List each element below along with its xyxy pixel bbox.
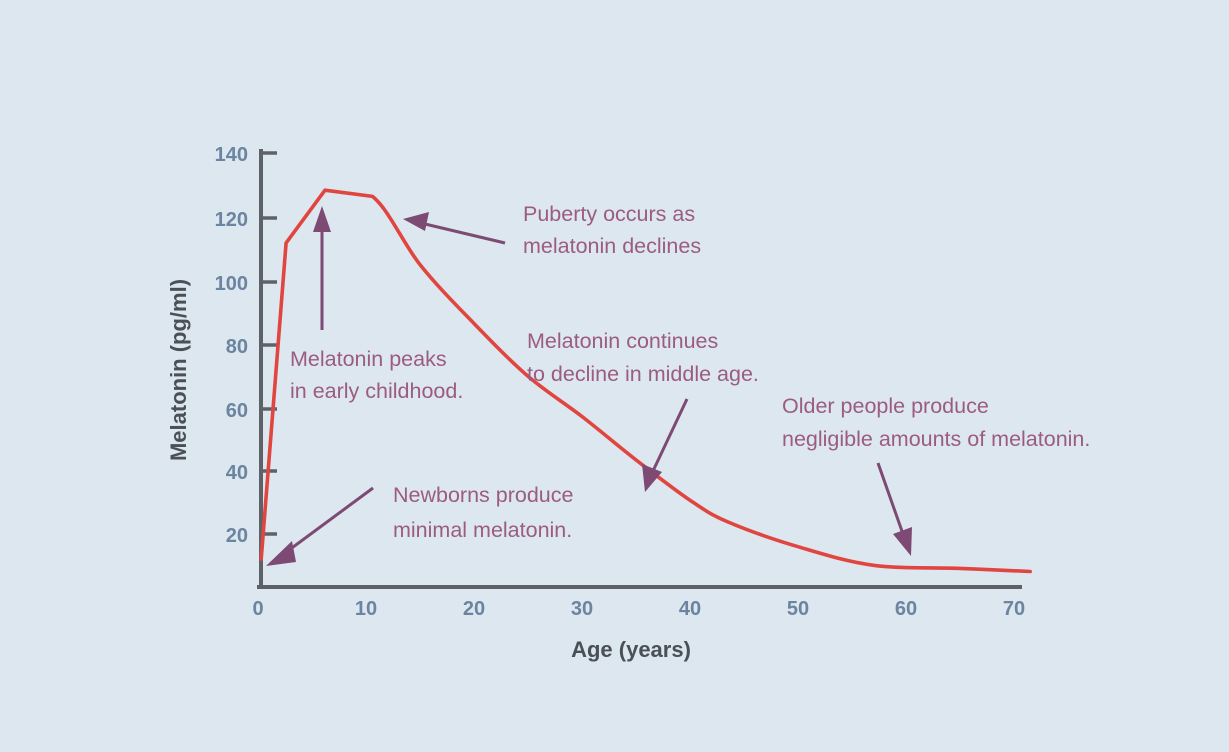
x-tick-labels: 0 10 20 30 40 50 60 70 <box>252 598 1025 620</box>
y-tick-label: 80 <box>226 336 248 358</box>
annotation-puberty: Puberty occurs as melatonin declines <box>403 202 701 258</box>
y-tick-labels: 140 120 100 80 60 40 20 <box>215 144 248 547</box>
chart-figure: 140 120 100 80 60 40 20 0 10 20 30 40 50… <box>0 0 1229 752</box>
x-tick-label: 40 <box>679 598 701 620</box>
y-axis-title: Melatonin (pg/ml) <box>166 279 191 461</box>
y-tick-label: 60 <box>226 400 248 422</box>
annotation-peak-line1: Melatonin peaks <box>290 347 447 371</box>
x-tick-label: 30 <box>571 598 593 620</box>
annotation-newborn: Newborns produce minimal melatonin. <box>266 483 573 566</box>
annotation-newborn-line2: minimal melatonin. <box>393 518 572 542</box>
annotation-middle-age: Melatonin continues to decline in middle… <box>527 329 759 492</box>
annotation-older: Older people produce negligible amounts … <box>782 394 1090 556</box>
annotation-peak-line2: in early childhood. <box>290 379 463 403</box>
x-axis-title: Age (years) <box>571 637 691 662</box>
annotation-puberty-line2: melatonin declines <box>523 234 701 258</box>
x-tick-label: 50 <box>787 598 809 620</box>
annotation-middle-age-line2: to decline in middle age. <box>527 362 759 386</box>
annotation-peak: Melatonin peaks in early childhood. <box>290 206 463 403</box>
x-tick-label: 70 <box>1003 598 1025 620</box>
y-tick-label: 140 <box>215 144 248 166</box>
x-tick-label: 20 <box>463 598 485 620</box>
annotation-middle-age-line1: Melatonin continues <box>527 329 718 353</box>
x-tick-label: 60 <box>895 598 917 620</box>
melatonin-line-chart: 140 120 100 80 60 40 20 0 10 20 30 40 50… <box>0 0 1229 752</box>
annotation-older-line1: Older people produce <box>782 394 989 418</box>
y-tick-label: 20 <box>226 525 248 547</box>
y-tick-label: 40 <box>226 462 248 484</box>
y-tick-label: 120 <box>215 209 248 231</box>
x-tick-label: 10 <box>355 598 377 620</box>
y-tick-label: 100 <box>215 273 248 295</box>
x-tick-label: 0 <box>252 598 263 620</box>
annotation-newborn-line1: Newborns produce <box>393 483 573 507</box>
annotation-older-line2: negligible amounts of melatonin. <box>782 427 1090 451</box>
annotation-puberty-line1: Puberty occurs as <box>523 202 695 226</box>
